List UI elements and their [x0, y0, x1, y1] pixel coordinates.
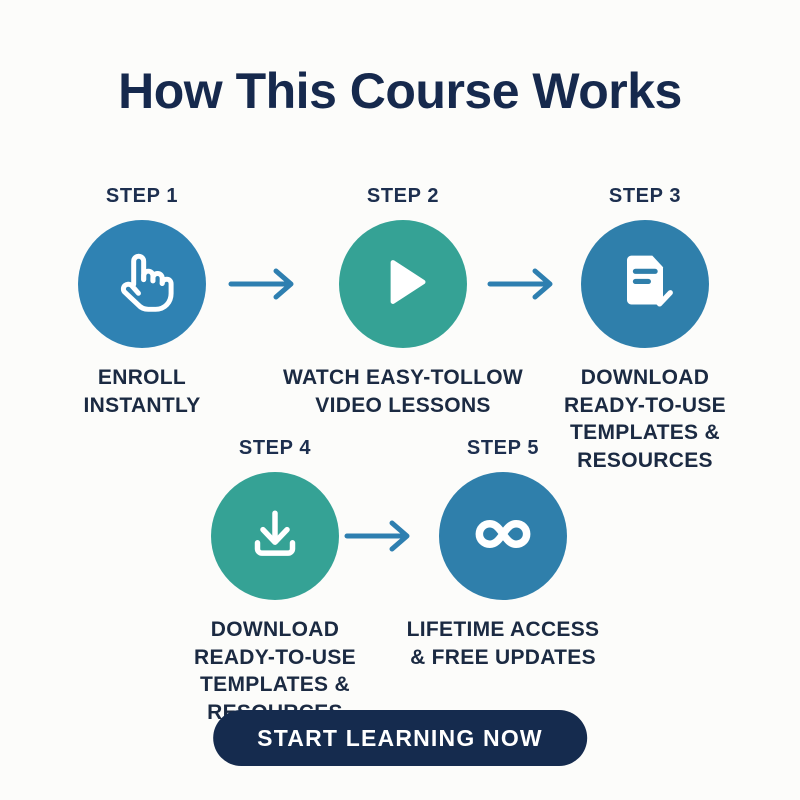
- step-4-caption-line: READY-TO-USE: [135, 644, 415, 672]
- step-1-circle: [78, 220, 206, 348]
- step-3-caption-line: DOWNLOAD: [525, 364, 765, 392]
- step-2-caption: WATCH EASY-TOLLOW VIDEO LESSONS: [283, 364, 523, 419]
- download-tray-icon: [240, 499, 310, 574]
- step-1-caption-line: ENROLL: [22, 364, 262, 392]
- step-1-caption: ENROLL INSTANTLY: [22, 364, 262, 419]
- step-5-label: STEP 5: [383, 438, 623, 458]
- step-2-circle: [339, 220, 467, 348]
- step-5-caption-line: LIFETIME ACCESS: [383, 616, 623, 644]
- step-3-caption-line: READY-TO-USE: [525, 392, 765, 420]
- page-title: How This Course Works: [0, 62, 800, 120]
- step-2-caption-line: VIDEO LESSONS: [283, 392, 523, 420]
- step-1-label: STEP 1: [22, 186, 262, 206]
- step-2-caption-line: WATCH EASY-TOLLOW: [283, 364, 523, 392]
- step-4-circle: [211, 472, 339, 600]
- step-1: STEP 1 ENROLL INSTANTLY: [22, 186, 262, 419]
- infinity-icon: [464, 495, 542, 578]
- infographic-canvas: How This Course Works STEP 1 ENROLL INST…: [0, 0, 800, 800]
- step-5-circle: [439, 472, 567, 600]
- step-1-caption-line: INSTANTLY: [22, 392, 262, 420]
- pointing-hand-icon: [104, 244, 180, 325]
- document-download-icon: [609, 246, 681, 323]
- step-3-circle: [581, 220, 709, 348]
- step-5-caption: LIFETIME ACCESS & FREE UPDATES: [383, 616, 623, 671]
- step-3-label: STEP 3: [525, 186, 765, 206]
- step-3: STEP 3 DOWNLOAD READY-TO-USE TEMPLATES &…: [525, 186, 765, 475]
- play-icon: [367, 246, 439, 323]
- step-4: STEP 4 DOWNLOAD READY-TO-USE TEMPLATES &…: [135, 438, 415, 727]
- start-learning-now-button[interactable]: START LEARNING NOW: [213, 710, 587, 766]
- step-4-label: STEP 4: [135, 438, 415, 458]
- step-2: STEP 2 WATCH EASY-TOLLOW VIDEO LESSONS: [283, 186, 523, 419]
- step-5-caption-line: & FREE UPDATES: [383, 644, 623, 672]
- step-2-label: STEP 2: [283, 186, 523, 206]
- step-4-caption-line: DOWNLOAD: [135, 616, 415, 644]
- step-5: STEP 5 LIFETIME ACCESS & FREE UPDATES: [383, 438, 623, 671]
